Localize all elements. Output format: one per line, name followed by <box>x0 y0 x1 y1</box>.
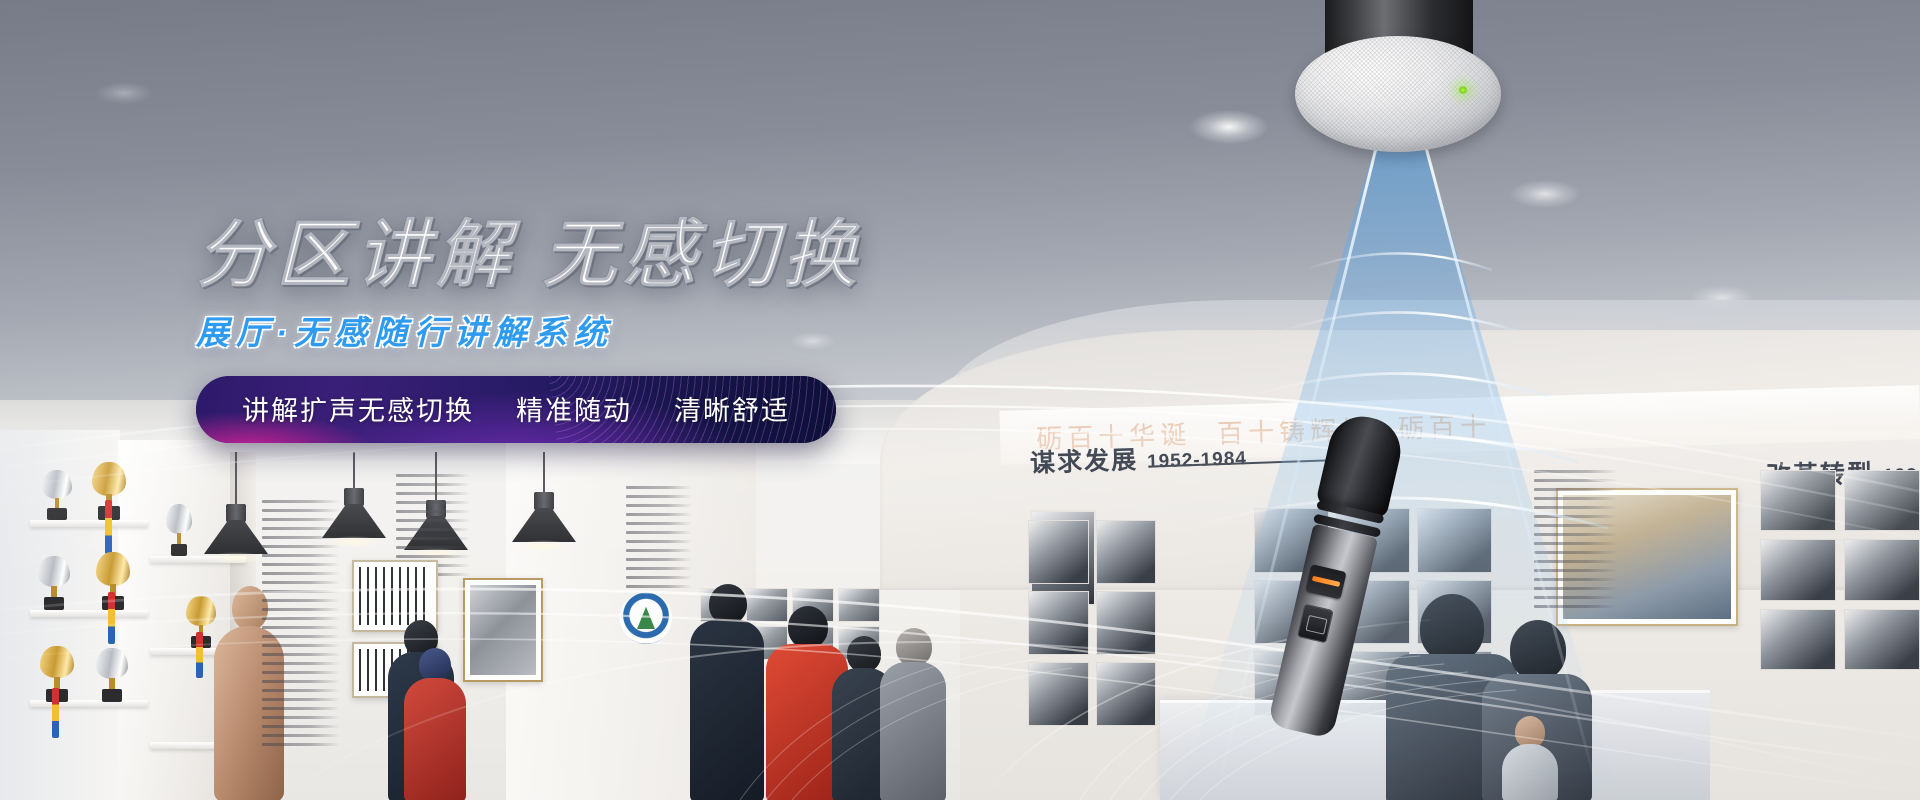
hero-banner: 砺百十华诞 百十铸辉煌 砺百十 谋求发展 1952-1984 改革转型 1984… <box>0 0 1920 800</box>
feature-item-2: 精准随动 <box>516 389 632 428</box>
speaker-grille-icon <box>1295 36 1501 152</box>
feature-item-1: 讲解扩声无感切换 <box>242 389 474 428</box>
banner-copy: 分区讲解 无感切换 展厅·无感随行讲解系统 讲解扩声无感切换 精准随动 清晰舒适 <box>196 218 976 443</box>
speaker-status-led <box>1458 86 1468 94</box>
page-title: 分区讲解 无感切换 <box>196 218 976 292</box>
ceiling-speaker <box>1295 0 1501 172</box>
feature-pill: 讲解扩声无感切换 精准随动 清晰舒适 <box>196 376 836 443</box>
feature-item-3: 清晰舒适 <box>674 389 790 428</box>
page-subtitle: 展厅·无感随行讲解系统 <box>196 306 976 354</box>
